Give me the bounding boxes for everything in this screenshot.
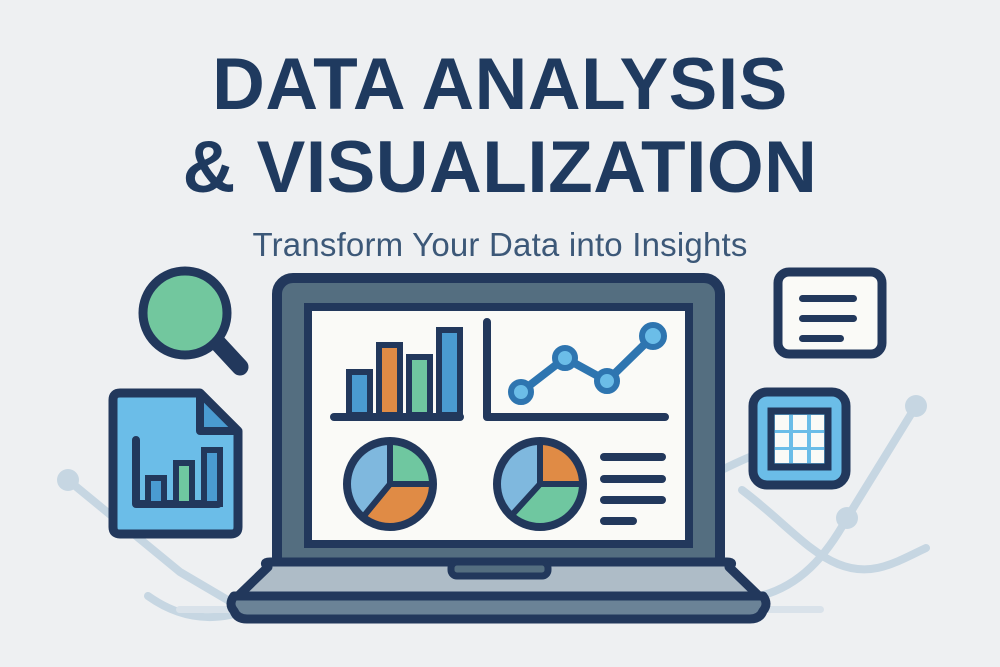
bar-2 [379, 345, 400, 415]
table-cell [793, 450, 807, 463]
bar-1 [349, 372, 370, 415]
bar-4 [439, 330, 460, 415]
table-grid-icon [753, 392, 846, 485]
table-cell [775, 415, 789, 430]
table-icon-cells [771, 411, 828, 467]
document-folded-corner [200, 393, 238, 431]
document-bar-chart-icon [113, 393, 238, 534]
bar-3 [409, 357, 430, 415]
laptop-trackpad-notch [451, 562, 548, 576]
laptop [231, 278, 766, 619]
note-line-3 [799, 335, 844, 342]
line-point-1 [511, 382, 531, 402]
legend-line-2 [600, 475, 666, 483]
table-cell [811, 450, 824, 463]
search-magnifier-icon [143, 271, 240, 367]
table-cell [811, 433, 824, 447]
line-point-3 [597, 371, 617, 391]
pie-chart-left [347, 441, 433, 527]
table-cell [793, 433, 807, 447]
table-cell [775, 433, 789, 447]
legend-line-1 [600, 453, 666, 461]
magnifier-lens [143, 271, 227, 355]
illustration [0, 0, 1000, 667]
legend-line-3 [600, 496, 666, 504]
note-line-1 [799, 295, 857, 302]
table-cell [793, 415, 807, 430]
line-point-2 [555, 348, 575, 368]
pie-chart-right [497, 441, 583, 527]
document-bar-2 [176, 463, 192, 504]
table-cell [811, 415, 824, 430]
document-bar-3 [204, 450, 220, 504]
table-cell [775, 450, 789, 463]
laptop-base-front [231, 596, 766, 619]
note-lines-icon [778, 272, 882, 354]
legend-line-4 [600, 517, 637, 525]
poster-root: DATA ANALYSIS & VISUALIZATION Transform … [0, 0, 1000, 667]
line-point-4 [642, 325, 664, 347]
note-line-2 [799, 315, 857, 322]
document-bar-1 [148, 478, 164, 504]
